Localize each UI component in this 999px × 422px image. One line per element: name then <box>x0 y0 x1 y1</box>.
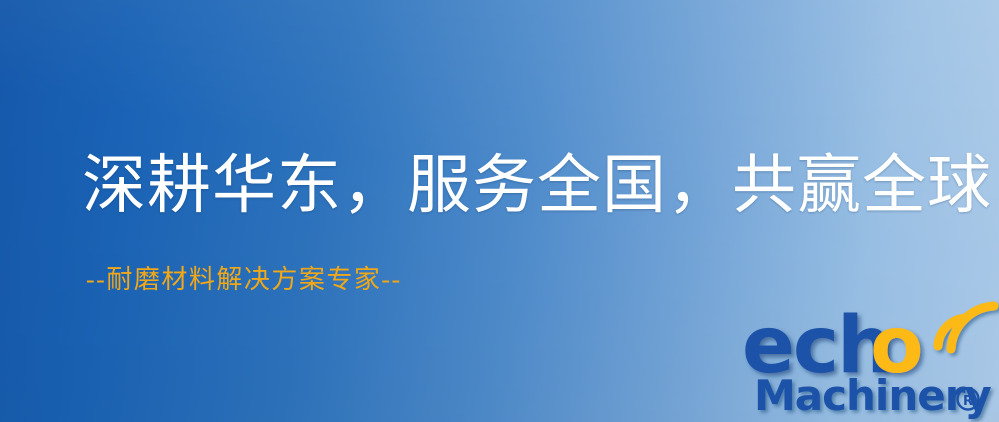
svg-text:Machinery: Machinery <box>754 371 991 420</box>
logo-text-machinery: Machinery <box>754 371 991 420</box>
echo-signal-waves-icon <box>938 306 994 349</box>
hero-banner: 深耕华东，服务全国，共赢全球 --耐磨材料解决方案专家-- ech <box>0 0 999 422</box>
brand-logo-graphic: ech o Machinery R <box>742 294 999 422</box>
page-title: 深耕华东，服务全国，共赢全球 <box>82 152 992 219</box>
brand-logo[interactable]: ech o Machinery R <box>742 294 999 422</box>
svg-text:R: R <box>963 394 973 409</box>
page-subtitle: --耐磨材料解决方案专家-- <box>86 266 402 295</box>
